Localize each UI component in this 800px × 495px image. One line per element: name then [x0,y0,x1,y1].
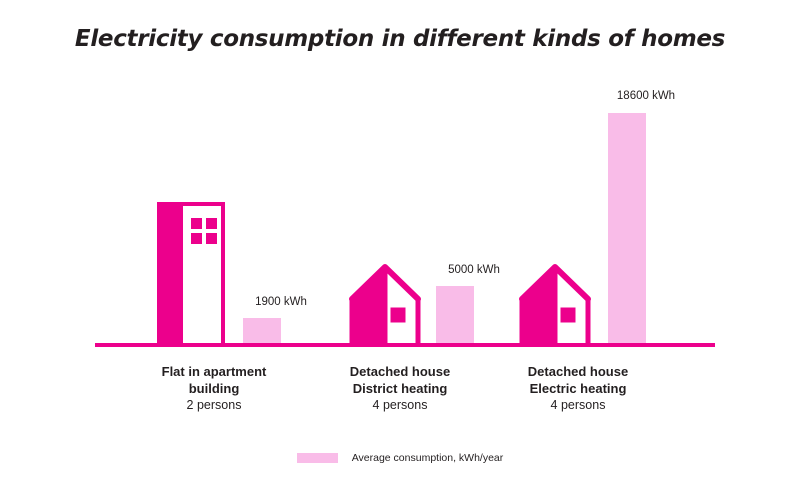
category-label-line3: 4 persons [468,397,688,414]
chart-container: Electricity consumption in different kin… [0,0,800,495]
plot-area: 1900 kWh Flat in apartment building 2 pe… [0,0,800,495]
window-pane [191,218,202,229]
chart-legend: Average consumption, kWh/year [0,452,800,464]
bar-group-detached-district: 5000 kWh [348,0,470,345]
bar-average-consumption [436,286,474,343]
bar-value-label: 18600 kWh [586,90,706,102]
bar-average-consumption [608,113,646,343]
category-label-line1: Detached house [468,364,688,381]
building-window-grid [191,218,217,244]
window-pane [191,233,202,244]
legend-swatch-average-consumption [297,453,338,463]
window-pane [206,218,217,229]
bar-group-detached-electric: 18600 kWh [518,0,646,345]
building-solid-wing [161,206,183,343]
detached-house-shape [518,263,592,343]
legend-label-average-consumption: Average consumption, kWh/year [352,452,504,464]
bar-group-flat-apartment: 1900 kWh [157,0,281,345]
bar-average-consumption [243,318,281,343]
detached-house-icon [518,263,592,343]
apartment-building-icon [157,202,225,343]
category-label-detached-electric: Detached house Electric heating 4 person… [468,364,688,414]
axis-baseline [95,343,715,347]
detached-house-shape [348,263,422,343]
detached-house-icon [348,263,422,343]
bar-value-label: 5000 kWh [414,264,534,276]
window-pane [206,233,217,244]
category-label-line2: Electric heating [468,381,688,398]
bar-value-label: 1900 kWh [221,296,341,308]
